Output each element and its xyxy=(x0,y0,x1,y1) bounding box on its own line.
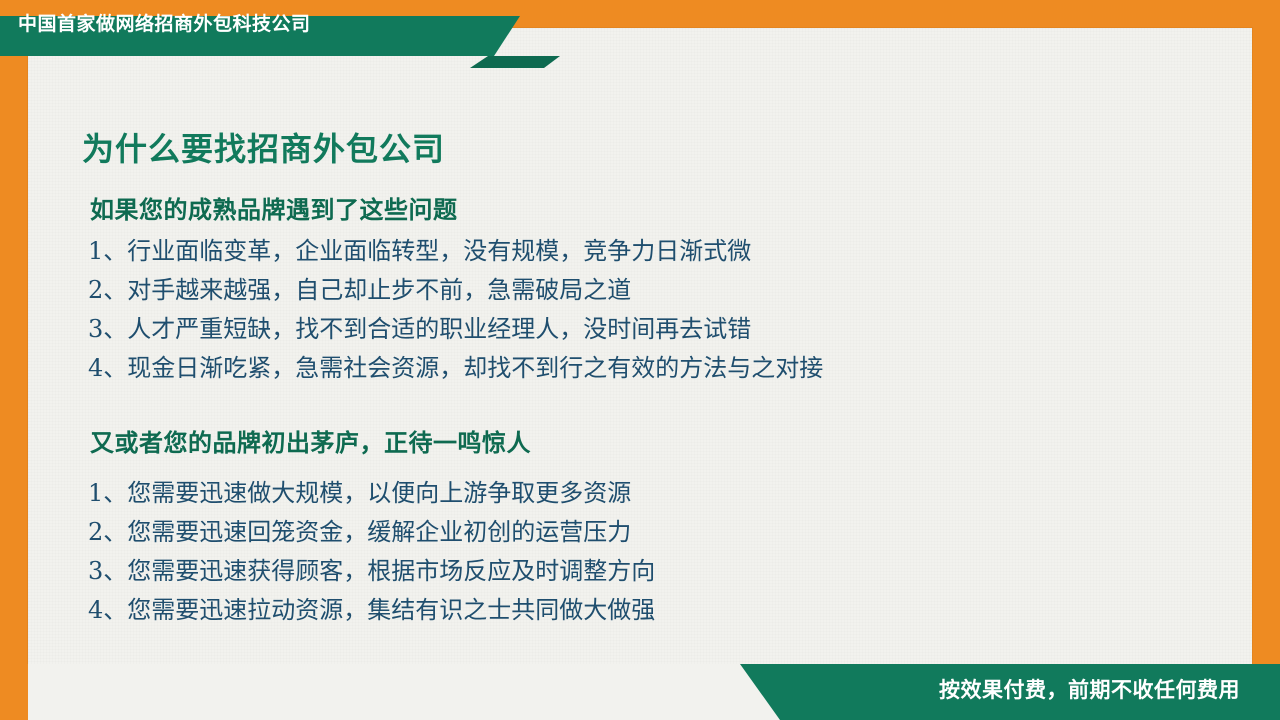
section-2-list: 1、您需要迅速做大规模，以便向上游争取更多资源 2、您需要迅速回笼资金，缓解企业… xyxy=(88,474,655,630)
footer-notch xyxy=(0,664,780,720)
list-item: 2、您需要迅速回笼资金，缓解企业初创的运营压力 xyxy=(88,513,655,552)
list-item: 3、您需要迅速获得顾客，根据市场反应及时调整方向 xyxy=(88,552,655,591)
list-item: 1、行业面临变革，企业面临转型，没有规模，竞争力日渐式微 xyxy=(88,232,823,271)
footer-label: 按效果付费，前期不收任何费用 xyxy=(939,674,1240,704)
section-1-list: 1、行业面临变革，企业面临转型，没有规模，竞争力日渐式微 2、对手越来越强，自己… xyxy=(88,232,823,388)
list-item: 3、人才严重短缺，找不到合适的职业经理人，没时间再去试错 xyxy=(88,310,823,349)
list-item: 1、您需要迅速做大规模，以便向上游争取更多资源 xyxy=(88,474,655,513)
page-title: 为什么要找招商外包公司 xyxy=(82,124,445,170)
list-item: 2、对手越来越强，自己却止步不前，急需破局之道 xyxy=(88,271,823,310)
slide-root: 中国首家做网络招商外包科技公司 为什么要找招商外包公司 如果您的成熟品牌遇到了这… xyxy=(0,0,1280,720)
section-1-heading: 如果您的成熟品牌遇到了这些问题 xyxy=(90,190,458,225)
list-item: 4、您需要迅速拉动资源，集结有识之士共同做大做强 xyxy=(88,591,655,630)
section-2-heading: 又或者您的品牌初出茅庐，正待一鸣惊人 xyxy=(90,423,531,458)
list-item: 4、现金日渐吃紧，急需社会资源，却找不到行之有效的方法与之对接 xyxy=(88,349,823,388)
top-banner-label: 中国首家做网络招商外包科技公司 xyxy=(18,9,311,36)
footer-left-edge xyxy=(0,664,28,720)
